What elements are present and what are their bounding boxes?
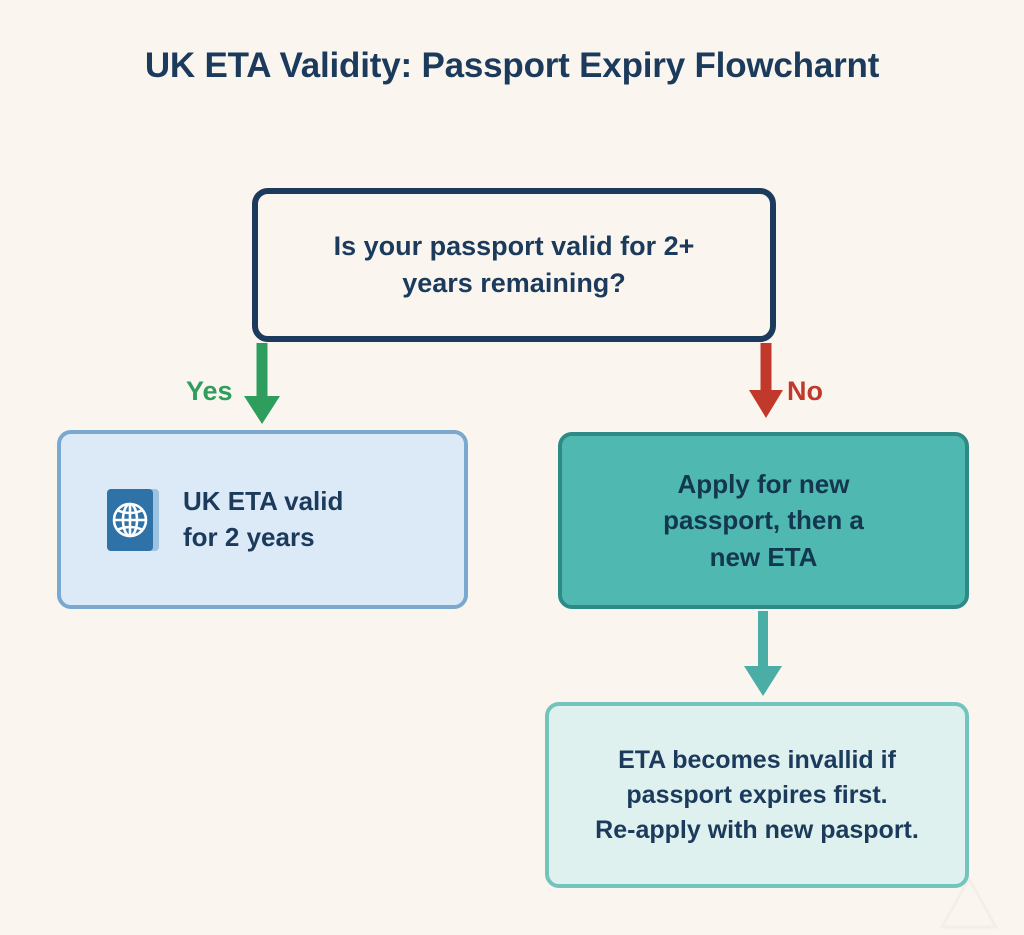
decision-line-2: years remaining? (402, 268, 626, 298)
note-node[interactable]: ETA becomes invallid if passport expires… (545, 702, 969, 888)
outcome-reapply-node-text: Apply for new passport, then a new ETA (637, 466, 890, 575)
edge-yes-arrow (244, 343, 280, 424)
note-line-1: ETA becomes invallid if (618, 746, 896, 774)
passport-icon (105, 487, 161, 553)
outcome-reapply-node[interactable]: Apply for new passport, then a new ETA (558, 432, 969, 609)
branch-label-no: No (787, 376, 823, 407)
edge-no-arrow (749, 343, 783, 418)
outcome-reapply-line-3: new ETA (710, 542, 818, 572)
outcome-reapply-line-2: passport, then a (663, 505, 864, 535)
edge-followup-arrow (744, 611, 782, 696)
note-line-2: passport expires first. (626, 781, 887, 809)
outcome-valid-line-1: UK ETA valid (183, 486, 343, 516)
outcome-reapply-line-1: Apply for new (678, 469, 850, 499)
branch-label-yes: Yes (186, 376, 233, 407)
note-node-text: ETA becomes invallid if passport expires… (579, 743, 935, 848)
outcome-valid-line-2: for 2 years (183, 522, 315, 552)
page-title: UK ETA Validity: Passport Expiry Flowcha… (0, 46, 1024, 86)
outcome-valid-node-text: UK ETA valid for 2 years (183, 484, 343, 556)
flowchart-canvas: UK ETA Validity: Passport Expiry Flowcha… (0, 0, 1024, 935)
decision-line-1: Is your passport valid for 2+ (334, 231, 695, 261)
outcome-valid-node[interactable]: UK ETA valid for 2 years (57, 430, 468, 609)
decision-node-text: Is your passport valid for 2+ years rema… (304, 228, 725, 303)
decision-node[interactable]: Is your passport valid for 2+ years rema… (252, 188, 776, 342)
note-line-3: Re-apply with new pasport. (595, 816, 919, 844)
